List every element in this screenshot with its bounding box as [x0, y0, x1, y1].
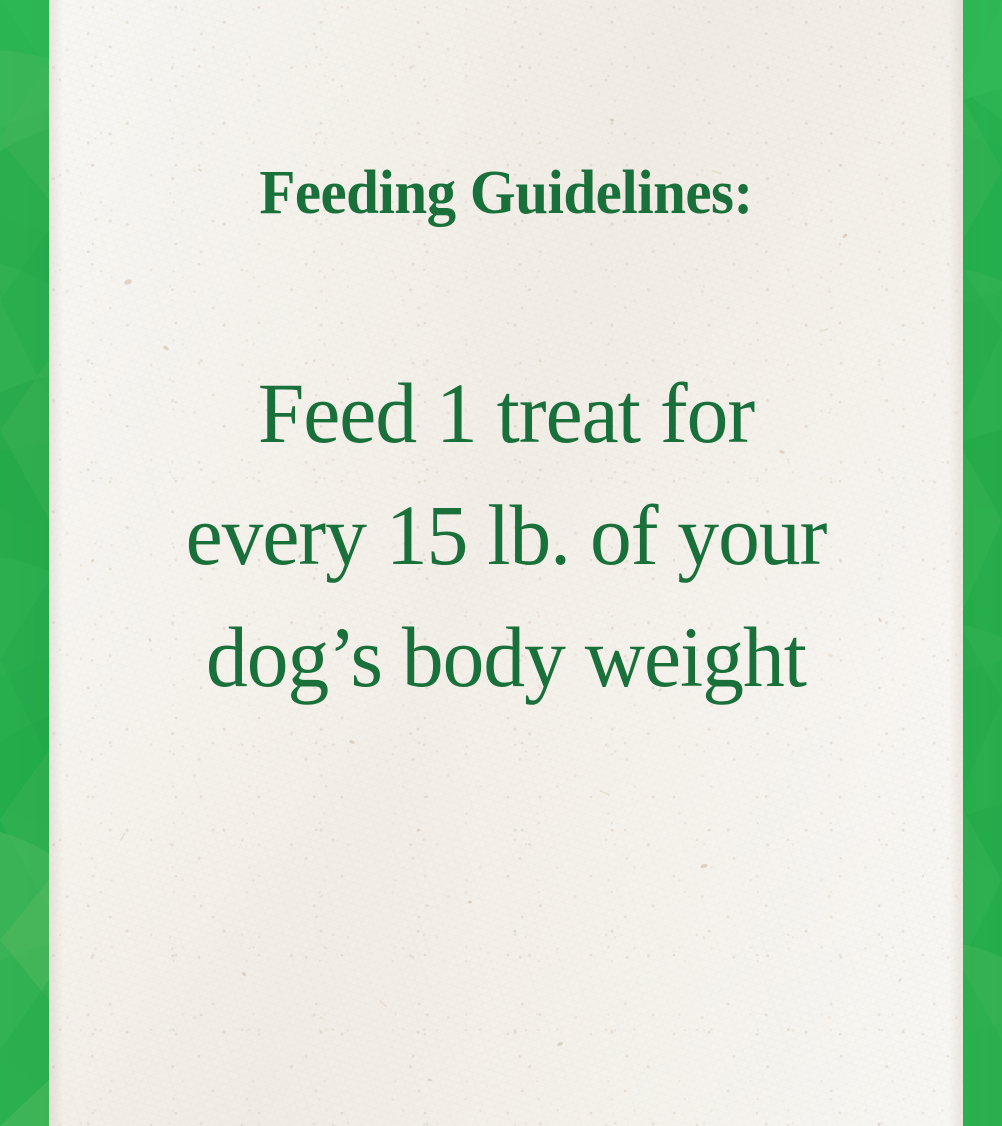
feeding-instruction-line-1: Feed 1 treat for [63, 352, 950, 474]
feeding-instruction-line-2: every 15 lb. of your [63, 474, 950, 596]
leaf-pattern-band-right [963, 0, 1002, 1126]
feeding-instruction-line-3: dog’s body weight [63, 596, 950, 718]
text-content: Feeding Guidelines: Feed 1 treat for eve… [49, 0, 963, 1126]
feeding-guidelines-heading: Feeding Guidelines: [72, 162, 940, 224]
leaf-pattern-band-left [0, 0, 49, 1126]
feeding-instruction-text: Feed 1 treat for every 15 lb. of your do… [63, 352, 950, 718]
leaf-pattern-svg-left [0, 0, 49, 1126]
leaf-pattern-svg-right [963, 0, 1002, 1126]
feeding-guidelines-panel: Feeding Guidelines: Feed 1 treat for eve… [0, 0, 1002, 1126]
